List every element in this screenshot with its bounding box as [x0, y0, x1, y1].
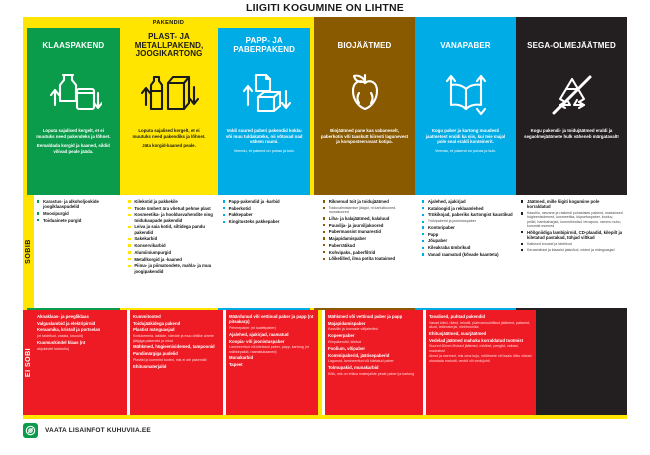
eisobi-list-cardboard: Määrdunud või vettinud paber ja papp (nt… [226, 310, 318, 415]
list-bio: Riknenud toit ja toidujäätmedToiduvalmis… [323, 199, 415, 262]
sobib-list-bio: Riknenud toit ja toidujäätmedToiduvalmis… [320, 195, 419, 308]
sobib-list-cardboard: Papp-pakendid ja -karbidPaberkotidPakkep… [220, 195, 314, 308]
list-plastic-no: KummitootedToidujääkidega pakendPlastist… [133, 314, 219, 369]
sobib-list-plastic: Kilekotid ja pakkekileToote ümbert ära v… [125, 195, 219, 308]
footer[interactable]: VAATA LISAINFOT KUHUVIIA.EE [23, 419, 627, 441]
list-glass: Karastus- ja alkoholjookide joogiklaaspu… [37, 199, 121, 223]
crossed-recycle-icon [516, 64, 627, 126]
column-header-mixed: SEGA-OLMEJÄÄTMED [516, 28, 627, 64]
sobib-list-mixed: Jäätmed, mille liigiti kogumine pole kor… [518, 195, 627, 308]
list-bio-no: Mähkmed või vettinud paber ja pappMajapi… [328, 314, 419, 376]
column-desc-plastic: Loputa sajalised kergelt, et ei muutuks … [123, 126, 216, 149]
eisobi-list-glass: Aknaklaas- ja peegliklaasValguslambid ja… [34, 310, 127, 415]
infographic-sheet: LIIGITI KOGUMINE ON LIHTNE PAKENDID KLAA… [0, 0, 650, 455]
sobib-list-paper: Ajalehed, ajakirjadKataloogid ja reklaam… [419, 195, 518, 308]
eisobi-list-bio: Mähkmed või vettinud paber ja pappMajapi… [325, 310, 423, 415]
list-cardboard: Papp-pakendid ja -karbidPaberkotidPakkep… [223, 199, 310, 224]
ei-sobi-label: EI SOBI [23, 310, 34, 415]
list-glass-no: Aknaklaas- ja peegliklaasValguslambid ja… [37, 314, 123, 351]
sobib-list-glass: Karastus- ja alkoholjookide joogiklaaspu… [34, 195, 125, 308]
column-header-cardboard: PAPP- JA PABERPAKEND [218, 28, 310, 64]
eisobi-list-paper: Tavalised, puhtad pakendidVanad kiled, r… [426, 310, 536, 415]
column-desc-glass: Loputa sajalised kergelt, et ei muutuks … [27, 126, 120, 154]
bottle-jar-arrows-icon [27, 64, 120, 126]
ei-sobi-row: EI SOBI Aknaklaas- ja peegliklaasValgusl… [23, 310, 627, 415]
packaging-band-label: PAKENDID [23, 17, 314, 28]
recycle-badge-icon [23, 423, 38, 438]
column-header-bio: BIOJÄÄTMED [314, 28, 415, 64]
page-title: LIIGITI KOGUMINE ON LIHTNE [0, 2, 650, 14]
footer-text: VAATA LISAINFOT KUHUVIIA.EE [45, 427, 151, 434]
list-cardboard-no: Määrdunud või vettinud paber ja papp (nt… [229, 314, 314, 367]
list-plastic: Kilekotid ja pakkekileToote ümbert ära v… [128, 199, 215, 274]
apple-core-arrows-icon [314, 64, 415, 126]
sobib-label: SOBIB [23, 195, 34, 308]
column-desc-paper: Kogu paber ja kartong muudesti jaatmetes… [415, 126, 516, 153]
column-desc-cardboard: Voldi suured paberi pakendid kokku või m… [218, 126, 310, 153]
column-desc-mixed: Kogu pakendi- ja toidujäätmed eraldi ja … [516, 126, 627, 139]
bottle-carton-arrows-icon [123, 64, 216, 126]
column-desc-bio: Biojäätmed pane kas vabaneselt, paberkot… [314, 126, 415, 145]
column-header-plastic: PLAST- JA METALLPAKEND, JOOGIKARTONG [123, 28, 216, 64]
open-book-arrows-icon [415, 64, 516, 126]
eisobi-list-plastic: KummitootedToidujääkidega pakendPlastist… [130, 310, 223, 415]
list-mixed: Jäätmed, mille liigiti kogumine pole kor… [521, 199, 623, 252]
list-paper-no: Tavalised, puhtad pakendidVanad kiled, r… [429, 314, 532, 363]
column-header-glass: KLAASPAKEND [27, 28, 120, 64]
column-header-paper: VANAPABER [415, 28, 516, 64]
list-paper: Ajalehed, ajakirjadKataloogid ja reklaam… [422, 199, 514, 257]
paper-box-arrows-icon [218, 64, 310, 126]
sobib-row: SOBIB Karastus- ja alkoholjookide joogik… [23, 195, 627, 308]
